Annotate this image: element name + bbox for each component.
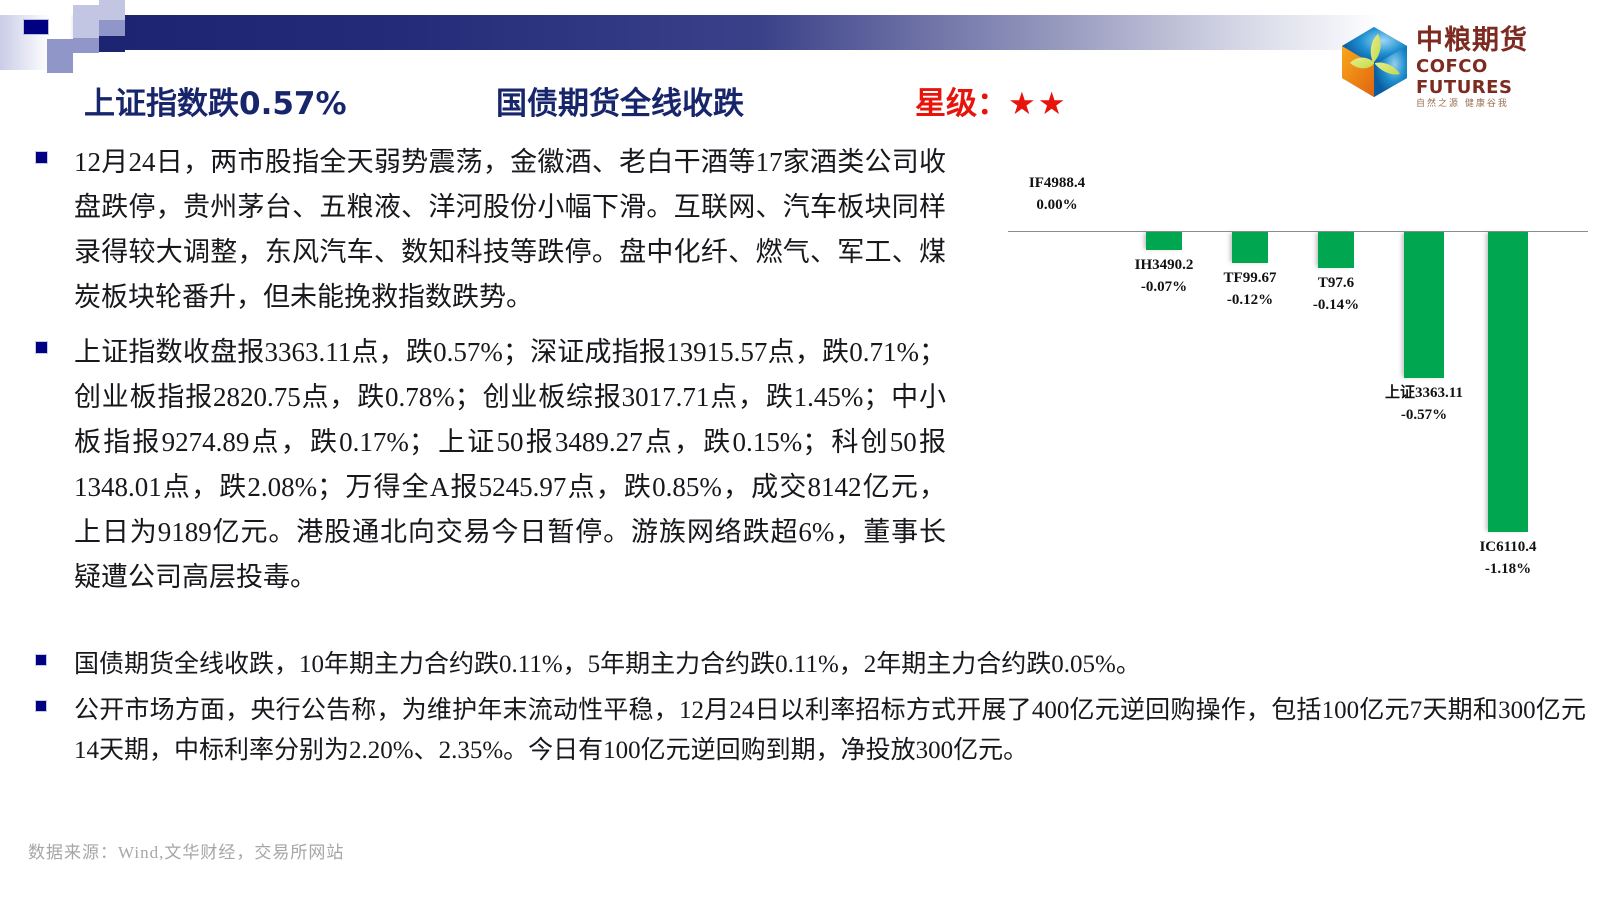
bullet-square-icon <box>35 654 47 666</box>
chart-bar-ic <box>1488 232 1528 532</box>
chart-point-label: 上证3363.11 <box>1385 385 1463 401</box>
bullet-square-icon <box>35 151 48 164</box>
cofco-logo-text: 中粮期货 COFCO FUTURES 自然之源 健康谷我 <box>1416 26 1588 111</box>
bullet-paragraph-1: 12月24日，两市股指全天弱势震荡，金徽酒、老白干酒等17家酒类公司收盘跌停，贵… <box>74 140 946 320</box>
header-gradient-bar <box>0 15 1380 50</box>
header-deco-block-1 <box>73 5 99 38</box>
chart-bar-t <box>1318 232 1354 268</box>
bullet-square-icon <box>35 700 47 712</box>
page-title-sub: 国债期货全线收跌 <box>496 78 744 123</box>
list-item: 公开市场方面，央行公告称，为维护年末流动性平稳，12月24日以利率招标方式开展了… <box>26 691 1586 771</box>
list-item: 12月24日，两市股指全天弱势震荡，金徽酒、老白干酒等17家酒类公司收盘跌停，贵… <box>26 140 946 320</box>
page-title-row: 上证指数跌0.57% 国债期货全线收跌 星级：★★ <box>0 78 1300 124</box>
chart-point-label: IC6110.4 <box>1479 539 1536 555</box>
header-deco-block-4 <box>99 20 125 36</box>
chart-bar-ih <box>1146 232 1182 250</box>
source-note: 数据来源：Wind,文华财经，交易所网站 <box>28 838 344 863</box>
chart-bar-tf <box>1232 232 1268 263</box>
body-left-column: 12月24日，两市股指全天弱势震荡，金徽酒、老白干酒等17家酒类公司收盘跌停，贵… <box>26 140 946 610</box>
header-deco-block-5 <box>99 36 125 52</box>
star-icon: ★★ <box>1008 86 1068 122</box>
rating-label: 星级： <box>915 86 1008 122</box>
header-deco-block-3 <box>99 0 125 20</box>
chart-label-ic: IC6110.4 -1.18% <box>1443 536 1573 580</box>
bullet-square-icon <box>35 341 48 354</box>
cofco-cube-icon <box>1338 24 1410 100</box>
chart-value-label: -0.57% <box>1359 404 1489 426</box>
chart-point-label: TF99.67 <box>1224 270 1277 286</box>
bullet-paragraph-3: 国债期货全线收跌，10年期主力合约跌0.11%，5年期主力合约跌0.11%，2年… <box>74 645 1586 685</box>
header-deco-block-2 <box>73 38 99 53</box>
bullet-paragraph-2: 上证指数收盘报3363.11点，跌0.57%；深证成指报13915.57点，跌0… <box>74 330 946 600</box>
chart-label-t: T97.6 -0.14% <box>1271 272 1401 316</box>
body-wide-column: 国债期货全线收跌，10年期主力合约跌0.11%，5年期主力合约跌0.11%，2年… <box>26 645 1586 777</box>
header-deco-block-6 <box>47 39 73 73</box>
logo-slogan: 自然之源 健康谷我 <box>1416 98 1588 111</box>
chart-value-label: 0.00% <box>992 194 1122 216</box>
chart-label-if: IF4988.4 0.00% <box>992 172 1122 216</box>
slide-page: 中粮期货 COFCO FUTURES 自然之源 健康谷我 上证指数跌0.57% … <box>0 0 1600 900</box>
chart-value-label: -0.14% <box>1271 294 1401 316</box>
chart-value-label: -1.18% <box>1443 558 1573 580</box>
chart-point-label: T97.6 <box>1318 275 1354 291</box>
rating-badge: 星级：★★ <box>915 78 1068 123</box>
chart-label-shanghai: 上证3363.11 -0.57% <box>1359 382 1489 426</box>
page-title-main: 上证指数跌0.57% <box>84 78 347 123</box>
cofco-logo: 中粮期货 COFCO FUTURES 自然之源 健康谷我 <box>1338 22 1588 102</box>
chart-point-label: IF4988.4 <box>1029 175 1085 191</box>
header-deco-navy-square <box>23 19 49 35</box>
list-item: 上证指数收盘报3363.11点，跌0.57%；深证成指报13915.57点，跌0… <box>26 330 946 600</box>
bullet-paragraph-4: 公开市场方面，央行公告称，为维护年末流动性平稳，12月24日以利率招标方式开展了… <box>74 691 1586 771</box>
chart-bar-shanghai <box>1404 232 1444 378</box>
list-item: 国债期货全线收跌，10年期主力合约跌0.11%，5年期主力合约跌0.11%，2年… <box>26 645 1586 685</box>
logo-name-en: COFCO FUTURES <box>1416 56 1588 98</box>
index-change-bar-chart: IF4988.4 0.00% IH3490.2 -0.07% TF99.67 -… <box>980 150 1592 580</box>
logo-name-cn: 中粮期货 <box>1416 26 1588 56</box>
